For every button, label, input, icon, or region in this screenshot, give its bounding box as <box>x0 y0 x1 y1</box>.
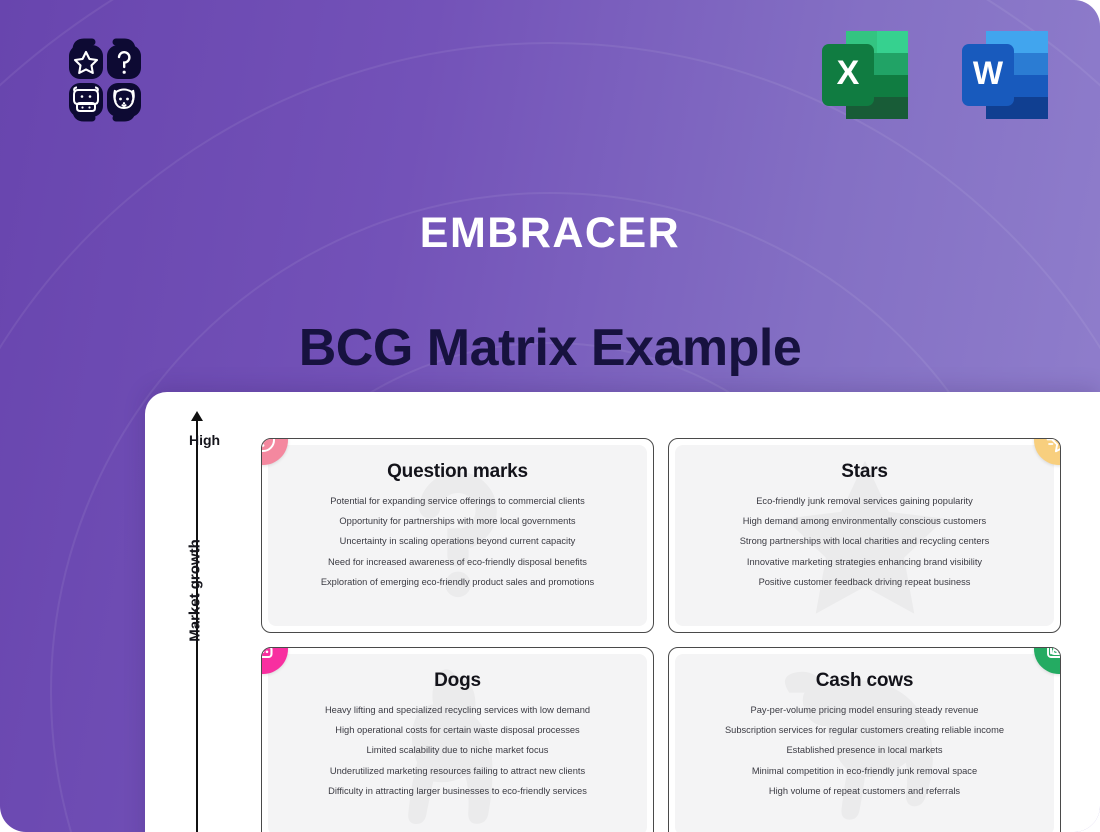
list-item: Underutilized marketing resources failin… <box>262 761 653 781</box>
question-mark-icon <box>261 438 278 455</box>
list-item: Uncertainty in scaling operations beyond… <box>262 532 653 552</box>
quadrant-title: Dogs <box>262 648 653 692</box>
list-item: Established presence in local markets <box>669 741 1060 761</box>
bcg-matrix-card: High Market growth Question marks <box>145 392 1100 832</box>
quadrant-title: Cash cows <box>669 648 1060 692</box>
quadrant-items: Pay-per-volume pricing model ensuring st… <box>669 700 1060 802</box>
list-item: Difficulty in attracting larger business… <box>262 781 653 801</box>
quadrant-cash-cows[interactable]: Cash cows Pay-per-volume pricing model e… <box>668 647 1061 832</box>
star-icon <box>1043 438 1061 456</box>
matrix-grid: Question marks Potential for expanding s… <box>261 438 1061 832</box>
list-item: Heavy lifting and specialized recycling … <box>262 700 653 720</box>
padlock-icon <box>261 647 278 664</box>
list-item: Limited scalability due to niche market … <box>262 741 653 761</box>
quadrant-title: Stars <box>669 439 1060 483</box>
list-item: High operational costs for certain waste… <box>262 720 653 740</box>
svg-text:X: X <box>837 54 860 92</box>
list-item: Pay-per-volume pricing model ensuring st… <box>669 700 1060 720</box>
word-icon[interactable]: W <box>960 28 1052 122</box>
page-title: BCG Matrix Example <box>0 318 1100 378</box>
list-item: Exploration of emerging eco-friendly pro… <box>262 572 653 592</box>
list-item: Positive customer feedback driving repea… <box>669 572 1060 592</box>
axis-label-high: High <box>189 432 220 448</box>
list-item: Strong partnerships with local charities… <box>669 532 1060 552</box>
quadrant-items: Heavy lifting and specialized recycling … <box>262 700 653 802</box>
quadrant-stars[interactable]: Stars Eco-friendly junk removal services… <box>668 438 1061 633</box>
quadrant-title: Question marks <box>262 439 653 483</box>
axis-label-market-growth: Market growth <box>187 521 204 661</box>
quadrant-dogs[interactable]: Dogs Heavy lifting and specialized recyc… <box>261 647 654 832</box>
list-item: Subscription services for regular custom… <box>669 720 1060 740</box>
office-app-icons: X W <box>820 28 1052 122</box>
embracer-logo[interactable] <box>52 28 156 132</box>
quadrant-question-marks[interactable]: Question marks Potential for expanding s… <box>261 438 654 633</box>
list-item: High volume of repeat customers and refe… <box>669 781 1060 801</box>
list-item: Potential for expanding service offering… <box>262 491 653 511</box>
excel-icon[interactable]: X <box>820 28 912 122</box>
list-item: Need for increased awareness of eco-frie… <box>262 552 653 572</box>
list-item: Opportunity for partnerships with more l… <box>262 511 653 531</box>
quadrant-items: Potential for expanding service offering… <box>262 491 653 593</box>
list-item: Innovative marketing strategies enhancin… <box>669 552 1060 572</box>
svg-text:W: W <box>973 55 1004 91</box>
banknotes-icon <box>1043 647 1061 665</box>
list-item: High demand among environmentally consci… <box>669 511 1060 531</box>
logo-glyph <box>52 28 156 132</box>
list-item: Minimal competition in eco-friendly junk… <box>669 761 1060 781</box>
poster-background: X W EMBRACER BCG Matrix Example High Mar… <box>0 0 1100 832</box>
list-item: Eco-friendly junk removal services gaini… <box>669 491 1060 511</box>
quadrant-items: Eco-friendly junk removal services gaini… <box>669 491 1060 593</box>
brand-name: EMBRACER <box>0 209 1100 258</box>
